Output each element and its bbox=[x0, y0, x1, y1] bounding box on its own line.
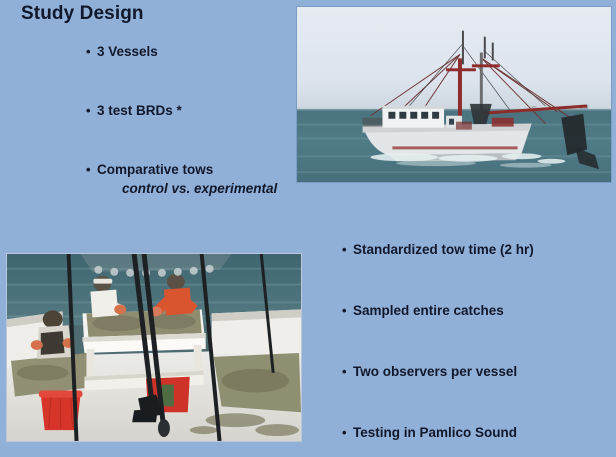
list-item: •3 Vessels bbox=[86, 44, 277, 61]
deck-sorting-photo bbox=[6, 253, 302, 442]
list-item: •Testing in Pamlico Sound bbox=[342, 425, 534, 442]
trawler-illustration bbox=[297, 7, 611, 182]
list-item-label: Standardized tow time (2 hr) bbox=[353, 242, 534, 257]
list-item: •3 test BRDs * bbox=[86, 103, 277, 120]
list-item-label: Sampled entire catches bbox=[353, 303, 504, 318]
bullet-dot-icon: • bbox=[86, 104, 97, 117]
bullet-dot-icon: • bbox=[342, 365, 353, 378]
shrimp-trawler-photo bbox=[296, 6, 612, 183]
list-item-subtext: control vs. experimental bbox=[86, 181, 277, 198]
list-item-label: 3 Vessels bbox=[97, 44, 158, 59]
list-item-label: Testing in Pamlico Sound bbox=[353, 425, 517, 440]
bullet-dot-icon: • bbox=[342, 304, 353, 317]
page-title: Study Design bbox=[21, 3, 144, 25]
bullet-dot-icon: • bbox=[86, 163, 97, 176]
list-item-label: Two observers per vessel bbox=[353, 364, 517, 379]
right-bullet-list: •Standardized tow time (2 hr) •Sampled e… bbox=[342, 242, 534, 442]
list-item-label: 3 test BRDs * bbox=[97, 103, 182, 118]
deck-illustration bbox=[7, 254, 301, 441]
list-item: •Standardized tow time (2 hr) bbox=[342, 242, 534, 259]
bullet-dot-icon: • bbox=[86, 45, 97, 58]
bullet-dot-icon: • bbox=[342, 426, 353, 439]
slide-canvas: Study Design •3 Vessels •3 test BRDs * •… bbox=[0, 0, 616, 457]
list-item: •Comparative tows control vs. experiment… bbox=[86, 162, 277, 198]
list-item: •Sampled entire catches bbox=[342, 303, 534, 320]
bullet-dot-icon: • bbox=[342, 243, 353, 256]
list-item: •Two observers per vessel bbox=[342, 364, 534, 381]
list-item-label: Comparative tows bbox=[97, 162, 213, 177]
left-bullet-list: •3 Vessels •3 test BRDs * •Comparative t… bbox=[86, 44, 277, 198]
